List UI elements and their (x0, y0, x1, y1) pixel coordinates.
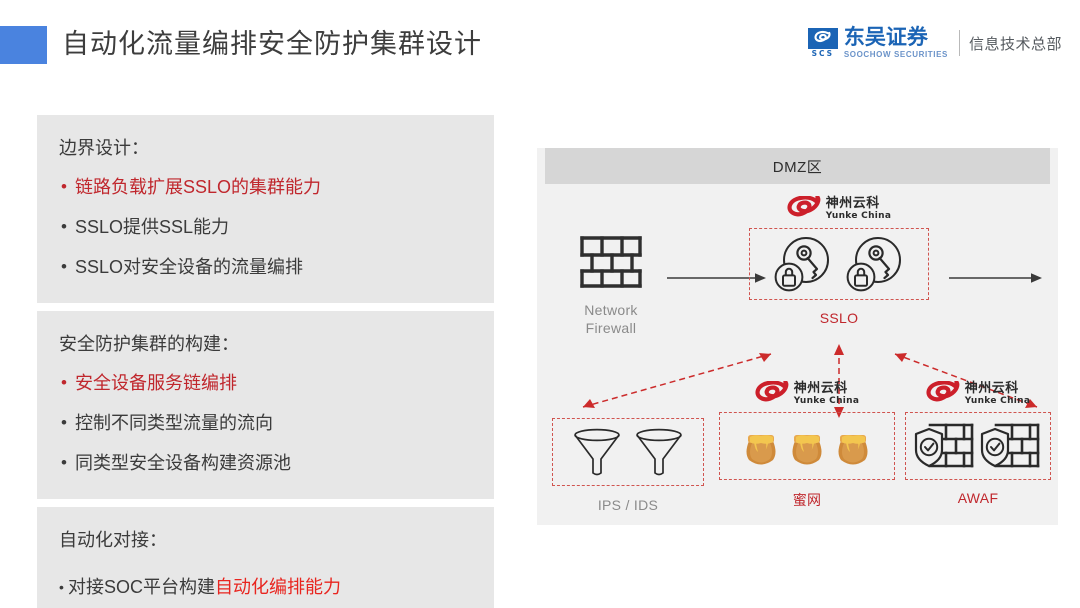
bullet-dot-icon: • (59, 572, 68, 602)
section-heading: 安全防护集群的构建： (37, 327, 494, 363)
vendor-name-en: Yunke China (794, 395, 860, 407)
list-item-label: 链路负载扩展SSLO的集群能力 (75, 172, 321, 202)
title-accent-bar (0, 26, 47, 64)
vendor-logo-text: 神州云科 Yunke China (826, 195, 892, 222)
bullet-dot-icon: • (61, 448, 75, 478)
list-item-label: SSLO提供SSL能力 (75, 212, 229, 242)
vendor-logo-yunke: 神州云科 Yunke China (905, 380, 1051, 407)
honeypot-icon (743, 425, 779, 467)
node-caption-sslo: SSLO (749, 310, 929, 326)
vendor-name-cn: 神州云科 (794, 380, 860, 395)
flow-arrow-out-icon (949, 270, 1043, 286)
list-item-label: 安全设备服务链编排 (75, 368, 237, 398)
list-item-label: 对接SOC平台构建自动化编排能力 (68, 572, 341, 602)
swirl-icon (812, 30, 834, 47)
key-lock-icon (844, 234, 906, 294)
list-item: • 对接SOC平台构建自动化编排能力 (37, 567, 494, 607)
list-item: • 同类型安全设备构建资源池 (37, 443, 494, 483)
bullet-dot-icon: • (61, 212, 75, 242)
ips-ids-cluster-boundary (552, 418, 704, 486)
dmz-zone-header: DMZ区 (545, 148, 1050, 184)
vendor-logo-text: 神州云科 Yunke China (965, 380, 1031, 407)
yunke-swoosh-icon (755, 381, 789, 407)
soochow-mark-icon: SCS (808, 28, 838, 58)
node-awaf: 神州云科 Yunke China (905, 380, 1051, 506)
list-item-label-highlight: 自动化编排能力 (215, 577, 341, 597)
bullet-dot-icon: • (61, 408, 75, 438)
list-item: • 控制不同类型流量的流向 (37, 403, 494, 443)
shield-wall-icon (914, 419, 976, 473)
list-item: • 链路负载扩展SSLO的集群能力 (37, 167, 494, 207)
node-network-firewall: Network Firewall (555, 233, 667, 337)
honeynet-cluster-boundary (719, 412, 895, 480)
brand-logo: SCS 东吴证券 SOOCHOW SECURITIES 信息技术总部 (808, 22, 1062, 64)
list-item-label: 控制不同类型流量的流向 (75, 408, 273, 438)
awaf-cluster-boundary (905, 412, 1051, 480)
honeypot-icon (789, 425, 825, 467)
left-content-column: 边界设计： • 链路负载扩展SSLO的集群能力 • SSLO提供SSL能力 • … (37, 115, 494, 608)
bullet-dot-icon: • (61, 252, 75, 282)
list-item: • SSLO提供SSL能力 (37, 207, 494, 247)
brand-names: 东吴证券 SOOCHOW SECURITIES (844, 27, 948, 60)
list-item-label-plain: 对接SOC平台构建 (68, 577, 215, 597)
funnel-icon (572, 426, 622, 478)
sslo-cluster-boundary (749, 228, 929, 300)
info-box-cluster-build: 安全防护集群的构建： • 安全设备服务链编排 • 控制不同类型流量的流向 • 同… (37, 311, 494, 499)
yunke-swoosh-icon (787, 196, 821, 222)
brand-name-en: SOOCHOW SECURITIES (844, 49, 948, 60)
brick-wall-icon (580, 233, 642, 289)
vendor-name-en: Yunke China (965, 395, 1031, 407)
key-lock-icon (772, 234, 834, 294)
brand-department: 信息技术总部 (969, 33, 1062, 54)
node-ips-ids: IPS / IDS (552, 418, 704, 514)
list-item-label: SSLO对安全设备的流量编排 (75, 252, 303, 282)
bullet-dot-icon: • (61, 172, 75, 202)
node-sslo: 神州云科 Yunke China (749, 195, 929, 326)
yunke-swoosh-icon (926, 381, 960, 407)
node-honeynet: 神州云科 Yunke China (719, 380, 895, 510)
funnel-icon (634, 426, 684, 478)
section-heading: 边界设计： (37, 131, 494, 167)
info-box-automation: 自动化对接： • 对接SOC平台构建自动化编排能力 (37, 507, 494, 608)
slide-root: 自动化流量编排安全防护集群设计 SCS 东吴证券 SOOCHOW SECURIT… (0, 0, 1080, 608)
vendor-logo-yunke: 神州云科 Yunke China (719, 380, 895, 407)
list-item-label: 同类型安全设备构建资源池 (75, 448, 291, 478)
node-caption-line1: Network (555, 301, 667, 319)
vendor-name-cn: 神州云科 (826, 195, 892, 210)
node-caption-awaf: AWAF (905, 490, 1051, 506)
shield-wall-icon (980, 419, 1042, 473)
info-box-boundary-design: 边界设计： • 链路负载扩展SSLO的集群能力 • SSLO提供SSL能力 • … (37, 115, 494, 303)
vendor-name-en: Yunke China (826, 210, 892, 222)
vendor-logo-text: 神州云科 Yunke China (794, 380, 860, 407)
honeypot-icon (835, 425, 871, 467)
bullet-dot-icon: • (61, 368, 75, 398)
brand-divider (959, 30, 960, 56)
list-item: • 安全设备服务链编排 (37, 363, 494, 403)
vendor-logo-yunke: 神州云科 Yunke China (749, 195, 929, 222)
node-caption-ips-ids: IPS / IDS (552, 496, 704, 514)
vendor-name-cn: 神州云科 (965, 380, 1031, 395)
node-caption-line2: Firewall (555, 319, 667, 337)
dmz-zone-label: DMZ区 (773, 156, 823, 177)
page-title: 自动化流量编排安全防护集群设计 (62, 23, 482, 65)
list-item: • SSLO对安全设备的流量编排 (37, 247, 494, 287)
brand-name-cn: 东吴证券 (844, 27, 948, 49)
brand-mark-label: SCS (808, 49, 838, 58)
architecture-diagram: DMZ区 (537, 148, 1058, 525)
section-heading: 自动化对接： (37, 523, 494, 567)
node-caption-honeynet: 蜜网 (719, 490, 895, 510)
